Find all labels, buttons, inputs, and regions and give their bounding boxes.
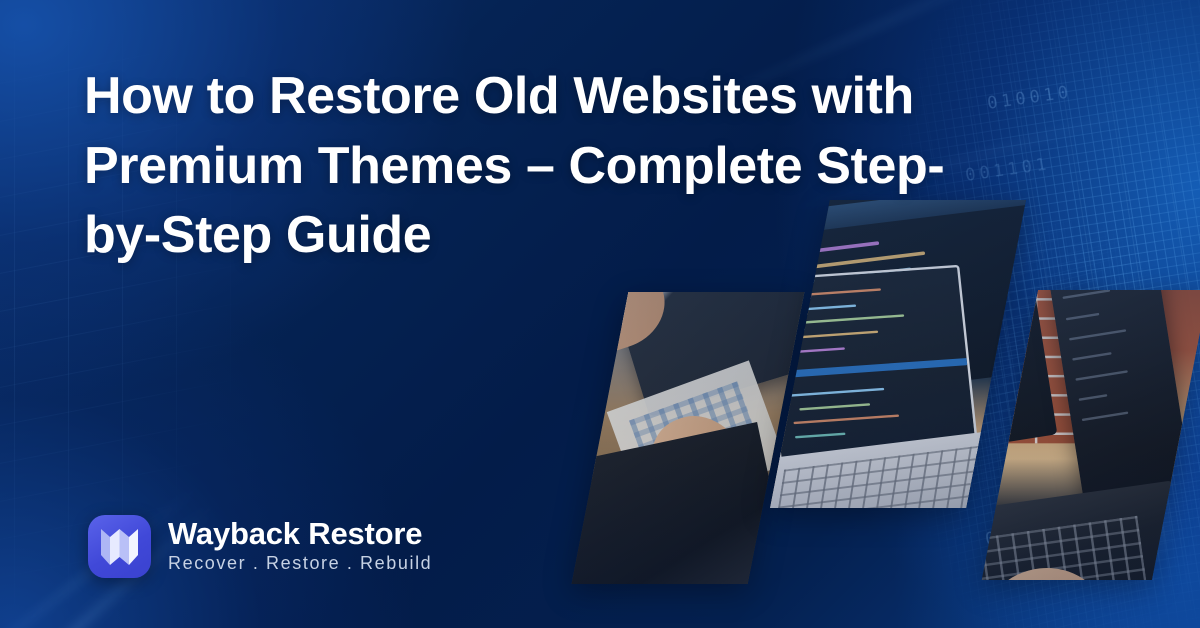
brand-tagline: Recover . Restore . Rebuild bbox=[168, 553, 432, 575]
brand-name: Wayback Restore bbox=[168, 518, 432, 551]
page-title: How to Restore Old Websites with Premium… bbox=[84, 62, 984, 271]
wayback-w-logo-icon bbox=[88, 515, 151, 578]
brand-text: Wayback Restore Recover . Restore . Rebu… bbox=[168, 518, 432, 575]
promo-banner: 010010 001101 00101 010010 110100 bbox=[0, 0, 1200, 628]
brand-lockup[interactable]: Wayback Restore Recover . Restore . Rebu… bbox=[88, 515, 432, 578]
background-glow-orb bbox=[1058, 464, 1178, 584]
